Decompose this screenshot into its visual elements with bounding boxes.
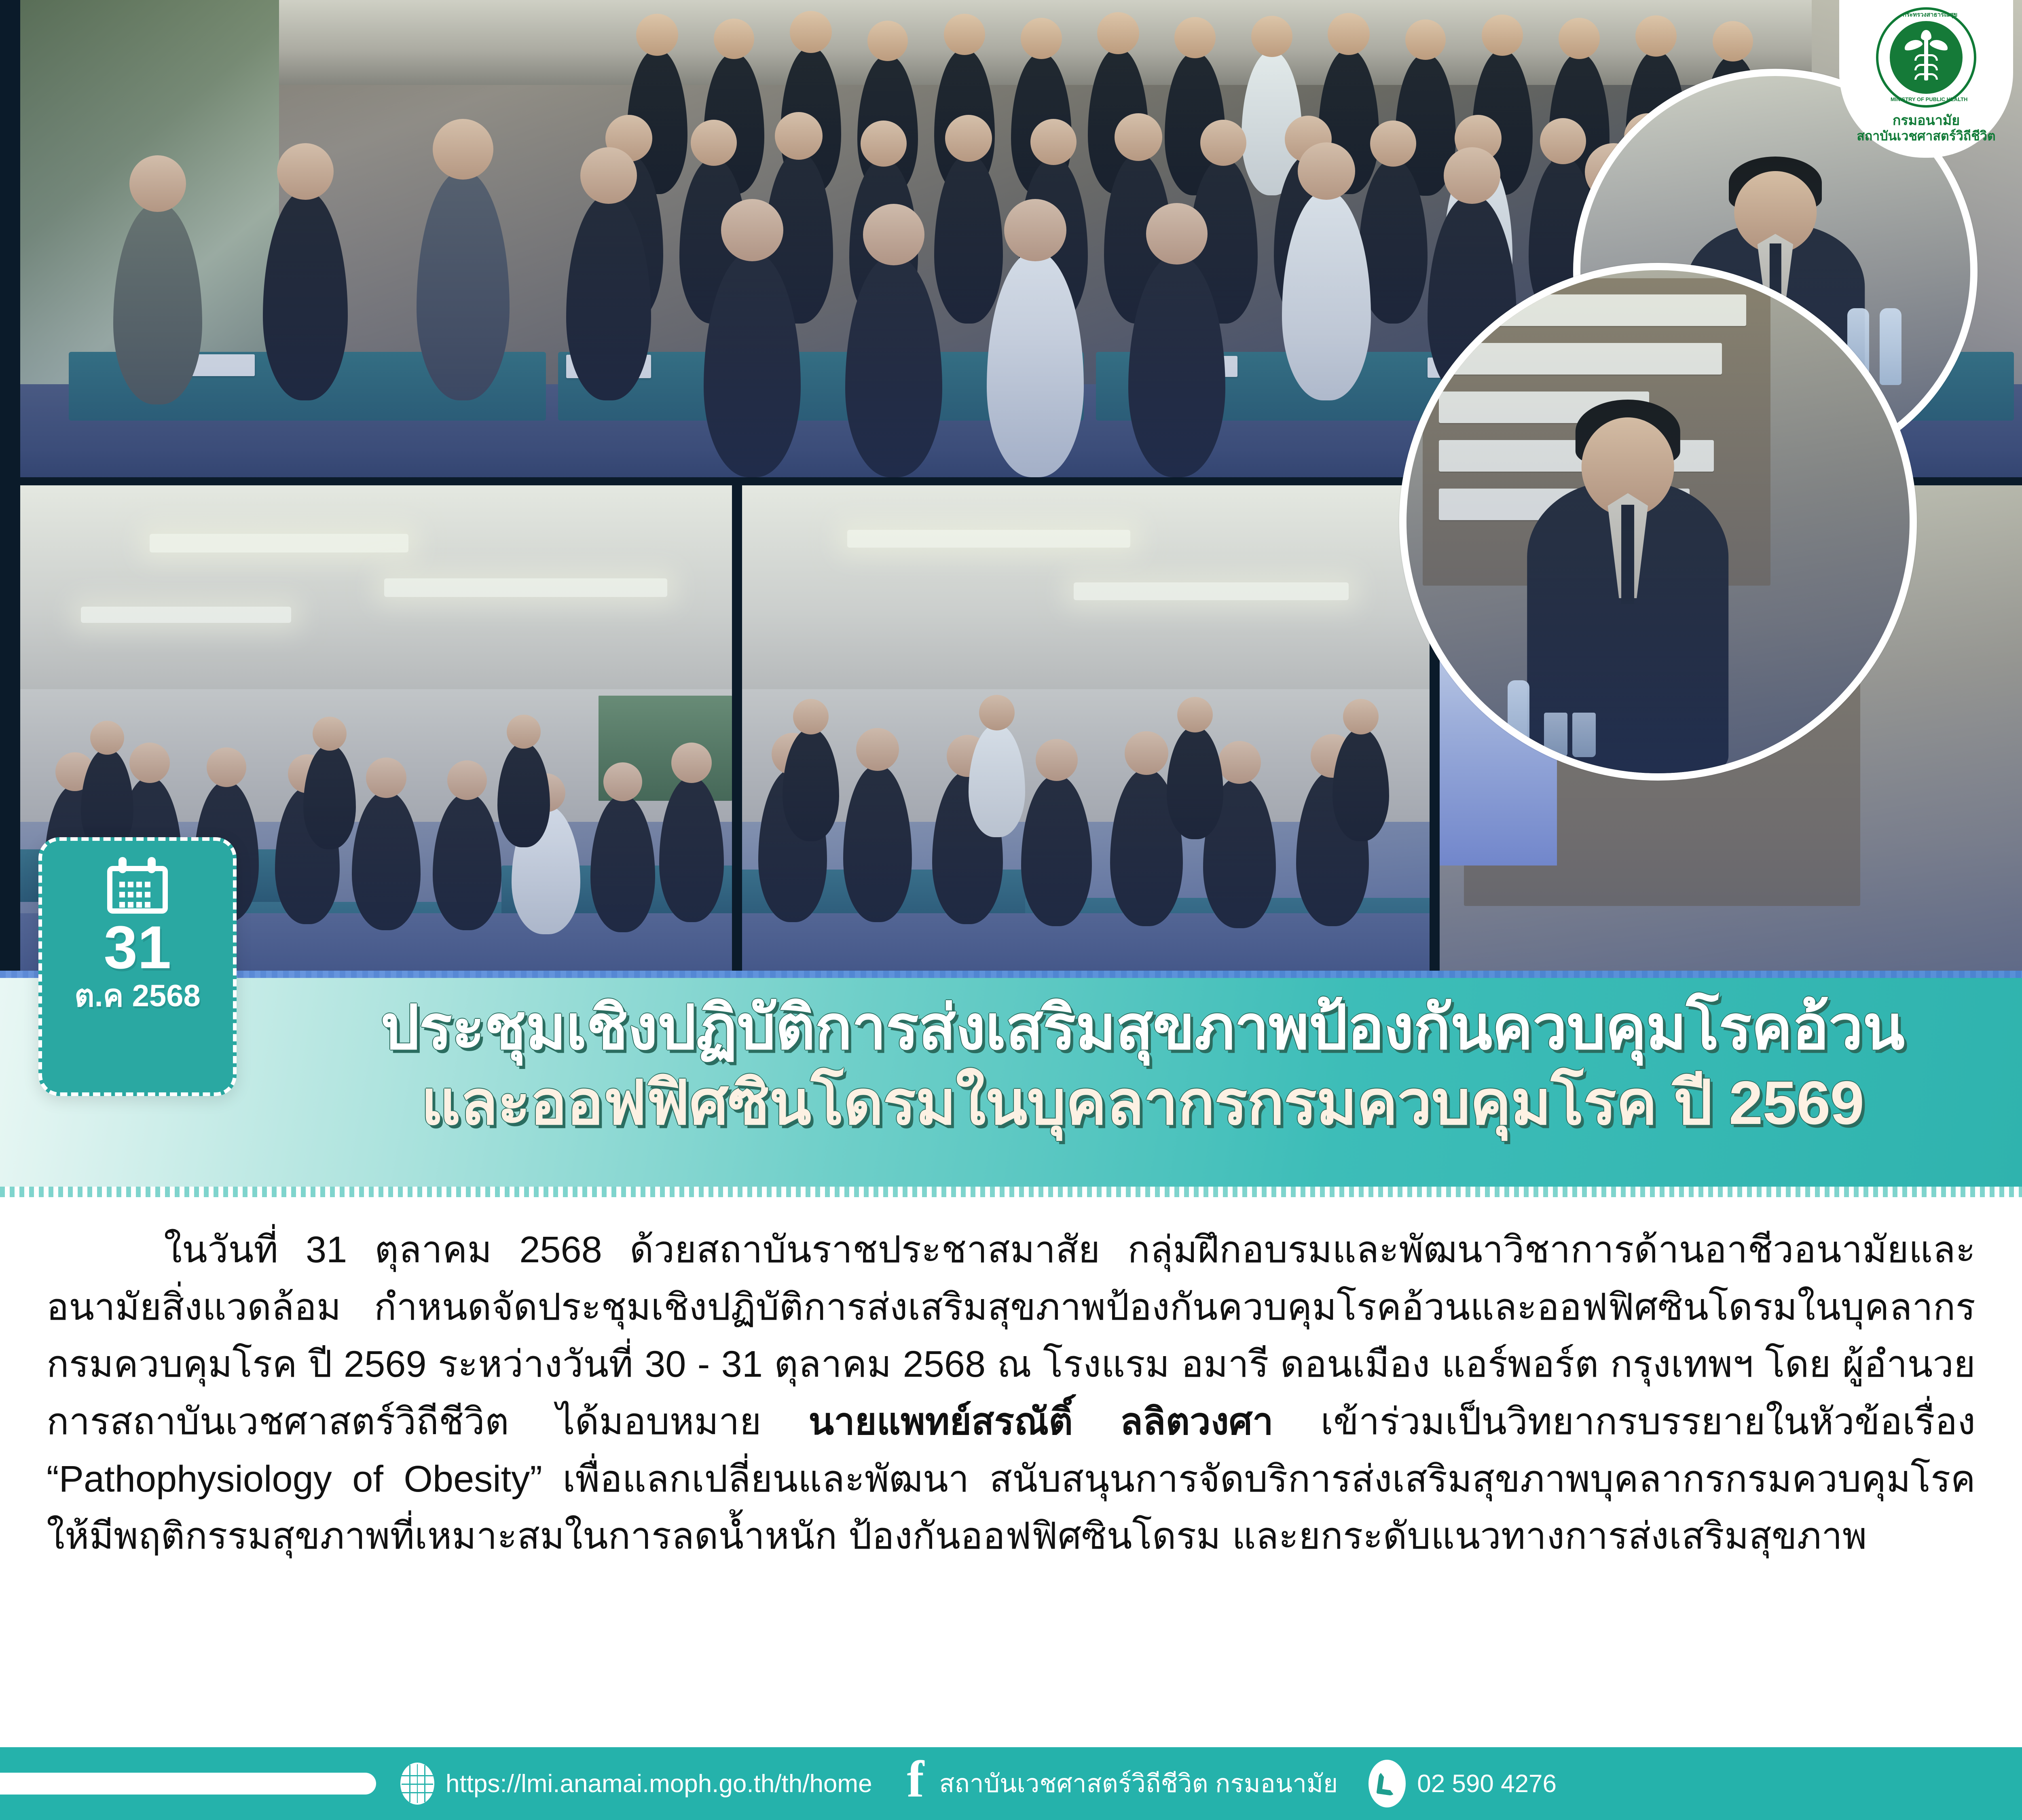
seal-text-english: MINISTRY OF PUBLIC HEALTH: [1891, 96, 1967, 102]
website-url: https://lmi.anamai.moph.go.th/th/home: [446, 1769, 872, 1798]
title-banner: ประชุมเชิงปฏิบัติการส่งเสริมสุขภาพป้องกั…: [0, 971, 2022, 1197]
moph-logo-badge: กระทรวงสาธารณสุข MINISTRY OF PUBLIC HEAL…: [1839, 0, 2013, 158]
title-line-1: ประชุมเชิงปฏิบัติการส่งเสริมสุขภาพป้องกั…: [283, 993, 2002, 1062]
speaker-circle-photo-bottom: [1399, 263, 1917, 781]
date-month-year: ต.ค 2568: [74, 978, 201, 1014]
date-badge: 31 ต.ค 2568: [38, 837, 237, 1096]
seal-text-thai: กระทรวงสาธารณสุข: [1903, 10, 1957, 19]
logo-institute-name: สถาบันเวชศาสตร์วิถีชีวิต: [1857, 129, 1995, 144]
facebook-page-name: สถาบันเวชศาสตร์วิถีชีวิต กรมอนามัย: [939, 1764, 1338, 1803]
phone-icon: [1368, 1760, 1406, 1807]
moph-seal-icon: กระทรวงสาธารณสุข MINISTRY OF PUBLIC HEAL…: [1876, 7, 1976, 108]
logo-dept-name: กรมอนามัย: [1857, 112, 1995, 129]
body-text-area: ในวันที่ 31 ตุลาคม 2568 ด้วยสถาบันราชประ…: [0, 1203, 2022, 1729]
calendar-icon: [107, 857, 168, 914]
title-block: ประชุมเชิงปฏิบัติการส่งเสริมสุขภาพป้องกั…: [283, 993, 2002, 1137]
facebook-icon: f: [903, 1761, 928, 1806]
speaker-name: นายแพทย์สรณัติ์ ลลิตวงศา: [808, 1401, 1273, 1442]
footer-bar: https://lmi.anamai.moph.go.th/th/home f …: [0, 1747, 2022, 1820]
article-paragraph: ในวันที่ 31 ตุลาคม 2568 ด้วยสถาบันราชประ…: [47, 1221, 1975, 1565]
caduceus-icon: [1904, 31, 1948, 84]
banner-top-strip: [0, 971, 2022, 978]
banner-bottom-strip: [0, 1187, 2022, 1197]
audience: [742, 485, 1430, 995]
globe-icon: [400, 1763, 434, 1805]
seminar-room-photo-middle: [742, 485, 1430, 995]
footer-website[interactable]: https://lmi.anamai.moph.go.th/th/home: [400, 1763, 872, 1805]
date-day: 31: [104, 917, 171, 978]
footer-accent-bar: [0, 1773, 376, 1795]
title-line-2: และออฟฟิศซินโดรมในบุคลากรกรมควบคุมโรค ปี…: [283, 1069, 2002, 1137]
footer-phone[interactable]: 02 590 4276: [1368, 1760, 1557, 1807]
footer-facebook[interactable]: f สถาบันเวชศาสตร์วิถีชีวิต กรมอนามัย: [903, 1761, 1338, 1806]
logo-subtitle: กรมอนามัย สถาบันเวชศาสตร์วิถีชีวิต: [1857, 112, 1995, 144]
poster-root: กระทรวงสาธารณสุข MINISTRY OF PUBLIC HEAL…: [0, 0, 2022, 1820]
phone-number: 02 590 4276: [1417, 1769, 1557, 1798]
photo-collage: [0, 0, 2022, 995]
